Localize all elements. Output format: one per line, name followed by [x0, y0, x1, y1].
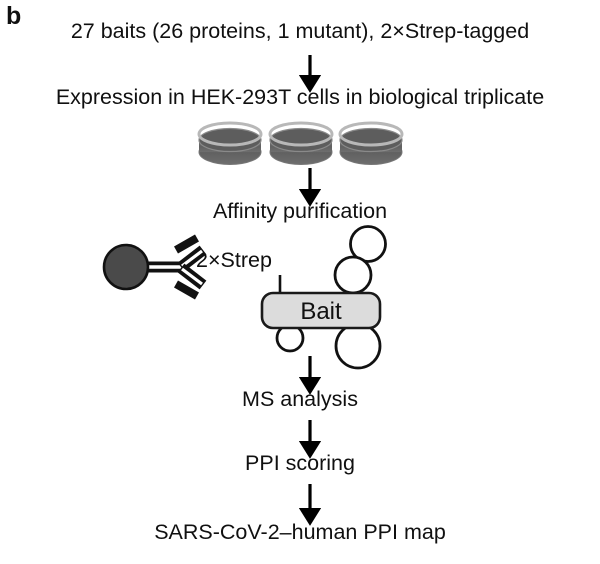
prey-protein-circle: [336, 324, 380, 368]
prey-protein-circle: [335, 257, 371, 293]
bead-icon: [104, 245, 148, 289]
bait-box: Bait: [262, 293, 380, 328]
petri-dish: [270, 123, 332, 165]
petri-dish: [199, 123, 261, 165]
figure-panel-b: b 27 baits (26 proteins, 1 mutant), 2×St…: [0, 0, 600, 564]
diagram-graphics-layer: Bait: [0, 0, 600, 564]
antibody-bead-icon: [104, 238, 203, 296]
bait-box-label: Bait: [300, 298, 342, 325]
petri-dish: [340, 123, 402, 165]
